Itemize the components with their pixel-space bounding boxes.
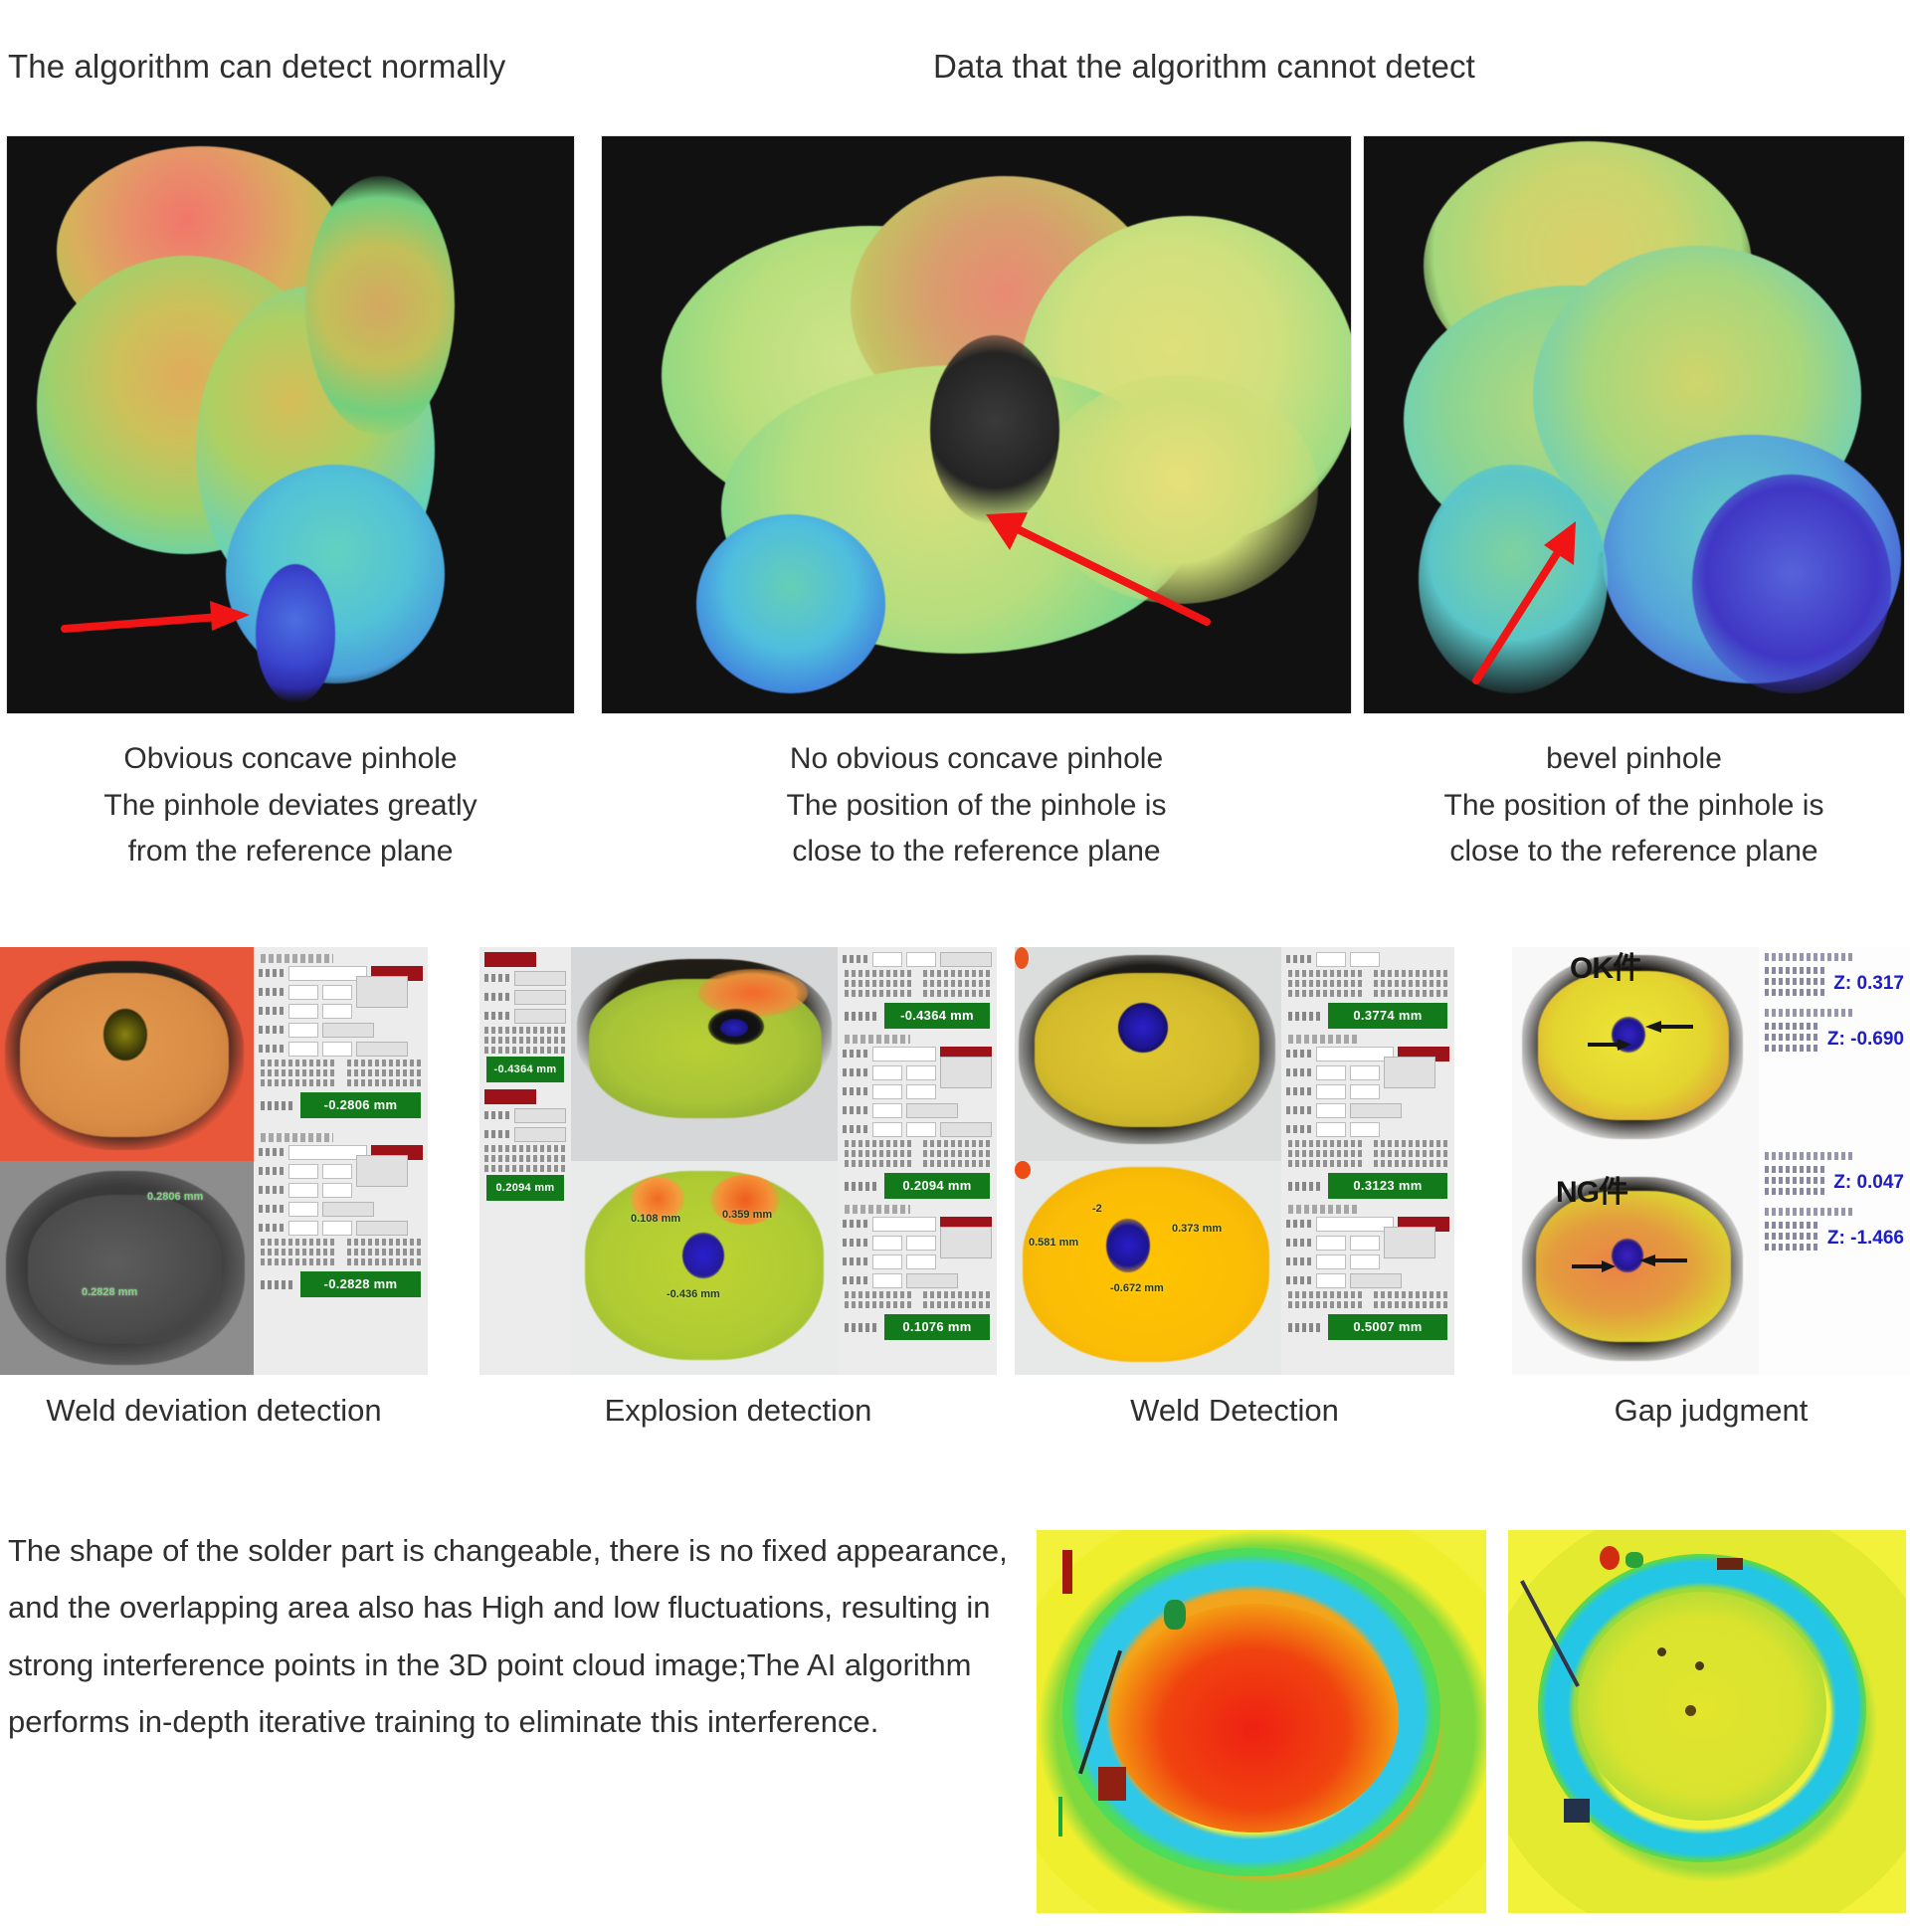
name-input[interactable] bbox=[1316, 1047, 1394, 1062]
section-headers: The algorithm can detect normally Data t… bbox=[0, 48, 1910, 94]
threshold-row[interactable] bbox=[259, 1022, 423, 1038]
x2-input[interactable] bbox=[288, 1004, 318, 1019]
red-arrow-icon-1 bbox=[61, 589, 260, 649]
result-row: -0.2806 mm bbox=[261, 1092, 421, 1118]
screenshot-explosion-detection: -0.4364 mm 0.2094 mm bbox=[479, 947, 997, 1375]
min-input[interactable] bbox=[872, 952, 902, 967]
edit-button[interactable] bbox=[940, 1227, 992, 1258]
y2-input[interactable] bbox=[1350, 1084, 1380, 1099]
max-input[interactable] bbox=[906, 952, 936, 967]
ui-group: 0.3774 mm 0.3123 mm 0.5007 mm bbox=[1281, 947, 1454, 1348]
caption-obvious-concave-pinhole: Obvious concave pinhole The pinhole devi… bbox=[6, 736, 575, 875]
point-cloud-captions: Obvious concave pinhole The pinhole devi… bbox=[0, 736, 1910, 895]
caption-line: Obvious concave pinhole bbox=[6, 736, 575, 783]
z-value: Z: -1.466 bbox=[1827, 1228, 1904, 1250]
screenshot-weld-deviation-detection: 0.2806 mm 0.2828 mm bbox=[0, 947, 428, 1375]
name-input[interactable] bbox=[1316, 1217, 1394, 1232]
z-value: Z: 0.317 bbox=[1833, 973, 1904, 995]
alarm-badge bbox=[484, 952, 536, 967]
threshold-input[interactable] bbox=[288, 1202, 318, 1217]
verdict-ng-label: NG件 bbox=[1556, 1167, 1627, 1211]
x-input[interactable] bbox=[872, 1065, 902, 1080]
gap-measure-panel[interactable]: Z: 0.317 Z: -0.690 Z: 0.047 Z: -1.466 bbox=[1759, 947, 1910, 1375]
caption-line: The position of the pinhole is bbox=[1363, 783, 1905, 830]
x-input[interactable] bbox=[1316, 1065, 1346, 1080]
edit-button[interactable] bbox=[356, 1155, 408, 1187]
set-button[interactable] bbox=[906, 1103, 958, 1118]
header-detectable: The algorithm can detect normally bbox=[8, 48, 505, 86]
field-label bbox=[259, 1224, 285, 1232]
z-group-title bbox=[1765, 953, 1855, 961]
red-arrow-icon-3 bbox=[1458, 509, 1598, 693]
slide-root: The algorithm can detect normally Data t… bbox=[0, 0, 1910, 1932]
edit-button[interactable] bbox=[1384, 1227, 1435, 1258]
z-measure-row: Z: -1.466 bbox=[1759, 1219, 1910, 1257]
result-value: -0.4364 mm bbox=[486, 1057, 564, 1082]
field-label bbox=[259, 988, 285, 996]
x-input[interactable] bbox=[1316, 1236, 1346, 1251]
set-button[interactable] bbox=[1350, 1103, 1402, 1118]
z-value: Z: -0.690 bbox=[1827, 1029, 1904, 1051]
apply-button[interactable] bbox=[940, 952, 992, 967]
threshold-row[interactable] bbox=[259, 1201, 423, 1217]
caption-weld-detection: Weld Detection bbox=[1015, 1393, 1454, 1429]
header-undetectable: Data that the algorithm cannot detect bbox=[933, 48, 1475, 86]
coord-row-top[interactable] bbox=[259, 1163, 423, 1179]
apply-button[interactable] bbox=[356, 1042, 408, 1057]
field-label bbox=[259, 1167, 285, 1175]
x2-input[interactable] bbox=[1316, 1255, 1346, 1269]
point-cloud-surface-3 bbox=[1364, 136, 1904, 713]
gap-arrow-left-icon bbox=[1645, 1019, 1693, 1035]
edit-button[interactable] bbox=[514, 971, 566, 986]
sample-image-depth-map: -2 0.581 mm 0.373 mm -0.672 mm bbox=[1015, 1161, 1281, 1375]
y2-input[interactable] bbox=[1350, 1255, 1380, 1269]
min-input[interactable] bbox=[872, 1122, 902, 1137]
stat-grid bbox=[261, 1239, 423, 1268]
z-value: Z: 0.047 bbox=[1833, 1172, 1904, 1194]
caption-line: bevel pinhole bbox=[1363, 736, 1905, 783]
max-input[interactable] bbox=[1350, 952, 1380, 967]
min-input[interactable] bbox=[288, 1221, 318, 1236]
result-value: 0.5007 mm bbox=[1328, 1314, 1447, 1340]
point-cloud-obvious-concave-pinhole bbox=[6, 135, 575, 714]
ui-group: -0.4364 mm 0.2094 mm 0.1076 mm bbox=[838, 947, 997, 1348]
x2-input[interactable] bbox=[1316, 1084, 1346, 1099]
min-input[interactable] bbox=[1316, 952, 1346, 967]
z-group-title bbox=[1765, 1009, 1855, 1017]
sample-image-column-1: 0.2806 mm 0.2828 mm bbox=[0, 947, 254, 1375]
sample-image-column-4: OK件 NG件 bbox=[1512, 947, 1759, 1375]
caption-gap-judgment: Gap judgment bbox=[1512, 1393, 1910, 1429]
result-value: 0.1076 mm bbox=[884, 1314, 990, 1340]
y-input[interactable] bbox=[322, 1164, 352, 1179]
field-label bbox=[259, 1026, 285, 1034]
y-input[interactable] bbox=[1350, 1065, 1380, 1080]
edit-button[interactable] bbox=[356, 976, 408, 1008]
inspection-screenshot-strip: 0.2806 mm 0.2828 mm bbox=[0, 947, 1910, 1375]
max-input[interactable] bbox=[1350, 1122, 1380, 1137]
ui-group: -0.2828 mm bbox=[254, 1126, 428, 1305]
caption-weld-deviation-detection: Weld deviation detection bbox=[0, 1393, 428, 1429]
alarm-badge bbox=[484, 1089, 536, 1104]
caption-bevel-pinhole: bevel pinhole The position of the pinhol… bbox=[1363, 736, 1905, 875]
y-input[interactable] bbox=[906, 1065, 936, 1080]
group-title bbox=[261, 1133, 333, 1142]
threshold-input[interactable] bbox=[1316, 1103, 1346, 1118]
verdict-ok-label: OK件 bbox=[1570, 947, 1641, 987]
z-measure-row: Z: -0.690 bbox=[1759, 1020, 1910, 1059]
y2-input[interactable] bbox=[322, 1183, 352, 1198]
point-speckle-3 bbox=[1364, 136, 1904, 713]
apply-button[interactable] bbox=[514, 1009, 566, 1024]
y-input[interactable] bbox=[906, 1236, 936, 1251]
max-input[interactable] bbox=[322, 1221, 352, 1236]
sample-image-3d-oblique bbox=[571, 947, 838, 1161]
result-value: -0.2806 mm bbox=[300, 1092, 421, 1118]
point-cloud-no-obvious-concave-pinhole bbox=[601, 135, 1352, 714]
field-label bbox=[259, 969, 285, 977]
min-input[interactable] bbox=[288, 1042, 318, 1057]
y-input[interactable] bbox=[322, 985, 352, 1000]
sample-image-3d-oblique bbox=[1015, 947, 1281, 1161]
edit-button[interactable] bbox=[940, 1057, 992, 1088]
caption-line: No obvious concave pinhole bbox=[601, 736, 1352, 783]
ui-group: -0.4364 mm 0.2094 mm bbox=[479, 947, 571, 1209]
set-button[interactable] bbox=[322, 1023, 374, 1038]
sample-image-column-2: 0.108 mm 0.359 mm -0.436 mm bbox=[571, 947, 838, 1375]
z-measure-row: Z: 0.317 bbox=[1759, 964, 1910, 1003]
screenshot-gap-judgment: OK件 NG件 bbox=[1512, 947, 1910, 1375]
range-row[interactable] bbox=[259, 1220, 423, 1236]
inspection-ui-panel-2-right[interactable]: -0.4364 mm 0.2094 mm 0.1076 mm bbox=[838, 947, 997, 1375]
apply-button[interactable] bbox=[940, 1122, 992, 1137]
gap-arrow-right-icon bbox=[1588, 1037, 1631, 1053]
result-label bbox=[261, 1280, 294, 1289]
caption-line: close to the reference plane bbox=[601, 829, 1352, 875]
y-input[interactable] bbox=[1350, 1236, 1380, 1251]
set-button[interactable] bbox=[322, 1202, 374, 1217]
stat-grid bbox=[261, 1060, 423, 1089]
result-row: -0.2828 mm bbox=[261, 1271, 421, 1297]
sample-image-grayscale: 0.2806 mm 0.2828 mm bbox=[0, 1161, 254, 1375]
sample-image-depth-map: 0.108 mm 0.359 mm -0.436 mm bbox=[571, 1161, 838, 1375]
field-label bbox=[259, 1205, 285, 1213]
screenshot-weld-detection: -2 0.581 mm 0.373 mm -0.672 mm 0.3774 mm bbox=[1015, 947, 1454, 1375]
max-input[interactable] bbox=[322, 1042, 352, 1057]
screenshot-captions: Weld deviation detection Explosion detec… bbox=[0, 1393, 1910, 1449]
threshold-input[interactable] bbox=[288, 1023, 318, 1038]
threshold-input[interactable] bbox=[1316, 1273, 1346, 1288]
caption-line: The position of the pinhole is bbox=[601, 783, 1352, 830]
inspection-ui-panel-3[interactable]: 0.3774 mm 0.3123 mm 0.5007 mm bbox=[1281, 947, 1454, 1375]
caption-line: from the reference plane bbox=[6, 829, 575, 875]
range-row[interactable] bbox=[259, 1041, 423, 1057]
y2-input[interactable] bbox=[906, 1255, 936, 1269]
red-arrow-icon-2 bbox=[960, 504, 1219, 634]
name-input[interactable] bbox=[872, 1217, 936, 1232]
field-label bbox=[259, 1186, 285, 1194]
ui-group: -0.2806 mm bbox=[254, 947, 428, 1126]
point-cloud-bevel-pinhole bbox=[1363, 135, 1905, 714]
result-value: -0.4364 mm bbox=[884, 1003, 990, 1029]
result-value: 0.2094 mm bbox=[486, 1175, 564, 1201]
sample-image-color bbox=[0, 947, 254, 1161]
coord-row-top[interactable] bbox=[259, 984, 423, 1000]
point-cloud-strip bbox=[0, 135, 1910, 714]
result-value: 0.2094 mm bbox=[884, 1173, 990, 1199]
z-group-title bbox=[1765, 1208, 1855, 1216]
apply-button[interactable] bbox=[356, 1221, 408, 1236]
field-label bbox=[259, 1148, 285, 1156]
inspection-ui-panel-2-left[interactable]: -0.4364 mm 0.2094 mm bbox=[479, 947, 571, 1375]
set-button[interactable] bbox=[514, 990, 566, 1005]
caption-line: The pinhole deviates greatly bbox=[6, 783, 575, 830]
threshold-input[interactable] bbox=[872, 1273, 902, 1288]
result-label bbox=[261, 1101, 294, 1110]
caption-explosion-detection: Explosion detection bbox=[479, 1393, 997, 1429]
y2-input[interactable] bbox=[906, 1084, 936, 1099]
x2-input[interactable] bbox=[872, 1084, 902, 1099]
y2-input[interactable] bbox=[322, 1004, 352, 1019]
gap-sample-ng: NG件 bbox=[1512, 1161, 1759, 1375]
edit-button[interactable] bbox=[514, 1108, 566, 1123]
set-button[interactable] bbox=[514, 1127, 566, 1142]
caption-line: close to the reference plane bbox=[1363, 829, 1905, 875]
gap-sample-ok: OK件 bbox=[1512, 947, 1759, 1161]
result-value: 0.3123 mm bbox=[1328, 1173, 1447, 1199]
min-input[interactable] bbox=[1316, 1122, 1346, 1137]
set-button[interactable] bbox=[906, 1273, 958, 1288]
result-value: -0.2828 mm bbox=[300, 1271, 421, 1297]
x-input[interactable] bbox=[288, 985, 318, 1000]
heatmap-ring-yellow-center bbox=[1508, 1530, 1906, 1913]
threshold-input[interactable] bbox=[872, 1103, 902, 1118]
summary-paragraph: The shape of the solder part is changeab… bbox=[8, 1522, 1018, 1750]
gap-arrow-left-icon bbox=[1639, 1253, 1687, 1268]
caption-no-obvious-concave-pinhole: No obvious concave pinhole The position … bbox=[601, 736, 1352, 875]
result-value: 0.3774 mm bbox=[1328, 1003, 1447, 1029]
inspection-ui-panel-1[interactable]: -0.2806 mm bbox=[254, 947, 428, 1375]
heatmap-ring-red-center bbox=[1037, 1530, 1486, 1913]
z-group-title bbox=[1765, 1152, 1855, 1160]
z-measure-row: Z: 0.047 bbox=[1759, 1163, 1910, 1202]
name-input[interactable] bbox=[872, 1047, 936, 1062]
gap-arrow-right-icon bbox=[1572, 1258, 1616, 1274]
x-input[interactable] bbox=[872, 1236, 902, 1251]
x2-input[interactable] bbox=[872, 1255, 902, 1269]
x2-input[interactable] bbox=[288, 1183, 318, 1198]
field-label bbox=[259, 1007, 285, 1015]
sample-image-column-3: -2 0.581 mm 0.373 mm -0.672 mm bbox=[1015, 947, 1281, 1375]
x-input[interactable] bbox=[288, 1164, 318, 1179]
set-button[interactable] bbox=[1350, 1273, 1402, 1288]
max-input[interactable] bbox=[906, 1122, 936, 1137]
edit-button[interactable] bbox=[1384, 1057, 1435, 1088]
field-label bbox=[259, 1045, 285, 1053]
group-title bbox=[261, 954, 333, 963]
